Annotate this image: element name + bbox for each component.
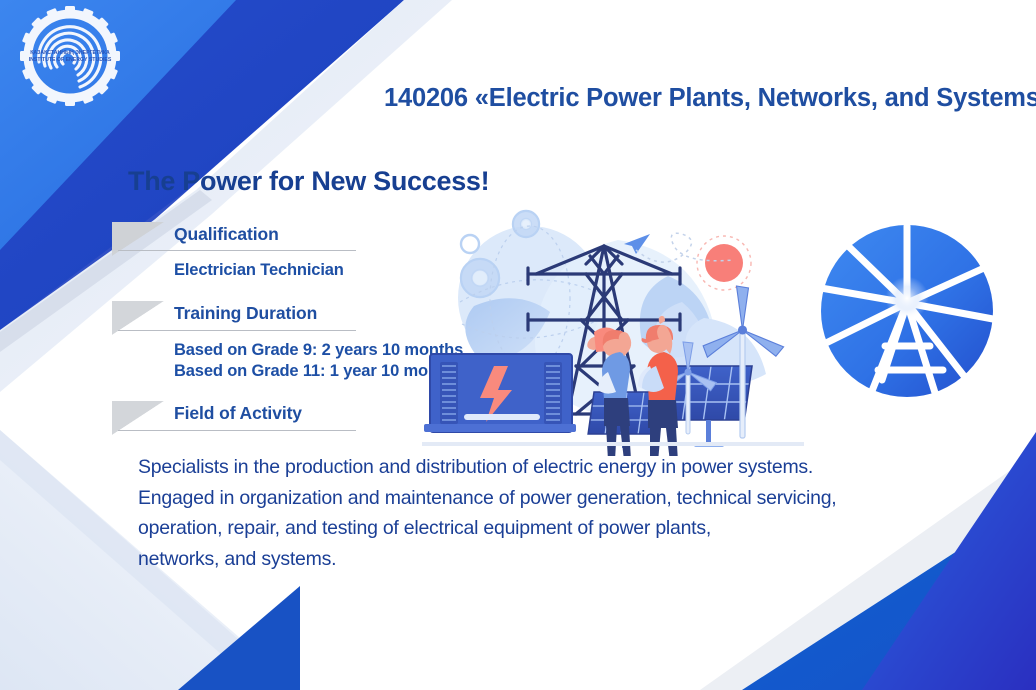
info-divider	[118, 250, 356, 251]
description-line: networks, and systems.	[138, 544, 938, 575]
battery-container-icon	[424, 354, 576, 432]
info-row-training-duration: Training Duration	[112, 301, 462, 335]
sun-icon	[705, 244, 743, 282]
info-divider	[118, 330, 356, 331]
info-value: Based on Grade 11: 1 year 10 months	[112, 361, 462, 382]
power-energy-illustration	[418, 206, 808, 456]
description-line: Specialists in the production and distri…	[138, 452, 938, 483]
info-label: Qualification	[112, 222, 462, 246]
institute-logo: ҚАЗАҚСТАННЫҢ ЭНЕРГЕТИКА INSTITUTE OF ENE…	[14, 6, 126, 110]
logo-text-line1: ҚАЗАҚСТАННЫҢ ЭНЕРГЕТИКА	[30, 50, 110, 56]
info-divider	[118, 430, 356, 431]
info-value: Based on Grade 9: 2 years 10 months	[112, 340, 462, 361]
description-line: operation, repair, and testing of electr…	[138, 513, 938, 544]
info-row-field-of-activity: Field of Activity	[112, 401, 462, 435]
info-block: Qualification Electrician Technician Tra…	[112, 222, 462, 435]
info-label: Field of Activity	[112, 401, 462, 425]
description-text: Specialists in the production and distri…	[138, 452, 938, 574]
course-title: 140206 «Electric Power Plants, Networks,…	[384, 84, 1004, 113]
slogan: The Power for New Success!	[128, 166, 489, 197]
slide-canvas: ҚАЗАҚСТАННЫҢ ЭНЕРГЕТИКА INSTITUTE OF ENE…	[0, 0, 1036, 690]
info-label: Training Duration	[112, 301, 462, 325]
logo-text-line2: INSTITUTE OF ENERGY STUDIES	[29, 57, 112, 63]
energy-globe-emblem	[812, 218, 1002, 404]
info-row-qualification: Qualification	[112, 222, 462, 256]
description-line: Engaged in organization and maintenance …	[138, 483, 938, 514]
info-value: Electrician Technician	[112, 260, 462, 281]
